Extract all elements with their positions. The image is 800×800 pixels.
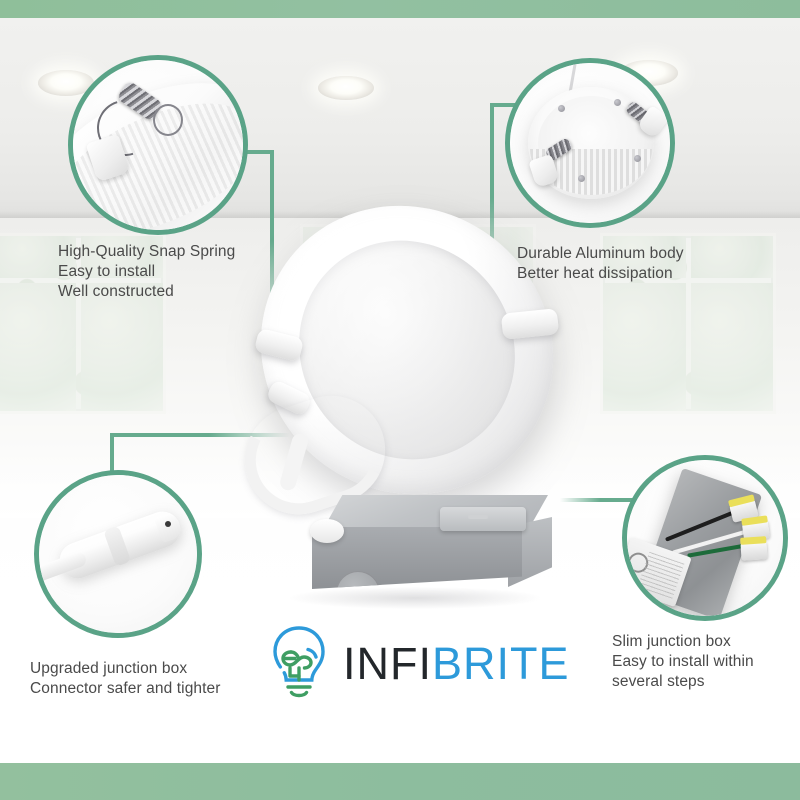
bottom-border-band bbox=[0, 763, 800, 800]
product-shadow bbox=[290, 587, 540, 609]
caption-slim-junction-box: Slim junction box Easy to install within… bbox=[612, 632, 797, 692]
connector-photo bbox=[39, 475, 197, 633]
brand-name-part2: BRITE bbox=[432, 638, 570, 689]
junction-box-photo bbox=[627, 460, 783, 616]
brand-wordmark: INFIBRITE bbox=[343, 641, 570, 686]
junction-box-front bbox=[312, 527, 522, 589]
brand-logo: INFIBRITE bbox=[268, 625, 558, 701]
panel-back-photo bbox=[510, 63, 670, 223]
top-border-band bbox=[0, 0, 800, 18]
callout-upgraded-connector bbox=[34, 470, 202, 638]
callout-slim-junction-box bbox=[622, 455, 788, 621]
rivet-icon bbox=[614, 99, 621, 106]
cable-entry-grommet bbox=[310, 519, 344, 543]
spring-wire-loop bbox=[153, 104, 183, 136]
connector-line-connector-v bbox=[110, 433, 114, 473]
junction-box bbox=[312, 495, 552, 591]
caption-aluminum-body: Durable Aluminum body Better heat dissip… bbox=[517, 244, 787, 284]
brand-name-part1: INFI bbox=[343, 638, 432, 689]
rivet-icon bbox=[634, 155, 641, 162]
connector-indicator-dot bbox=[165, 521, 171, 527]
caption-snap-spring: High-Quality Snap Spring Easy to install… bbox=[58, 242, 318, 302]
lightbulb-infinity-icon bbox=[268, 624, 330, 703]
wire-connector-cap bbox=[740, 541, 767, 561]
rivet-icon bbox=[578, 175, 585, 182]
recessed-downlight-icon bbox=[318, 76, 374, 100]
infographic-canvas: High-Quality Snap Spring Easy to install… bbox=[0, 0, 800, 800]
mounting-bracket bbox=[440, 507, 526, 531]
callout-snap-spring bbox=[68, 55, 248, 235]
rivet-icon bbox=[558, 105, 565, 112]
snap-spring-photo bbox=[73, 60, 243, 230]
quick-connector-body bbox=[55, 507, 186, 584]
caption-upgraded-connector: Upgraded junction box Connector safer an… bbox=[30, 659, 305, 699]
